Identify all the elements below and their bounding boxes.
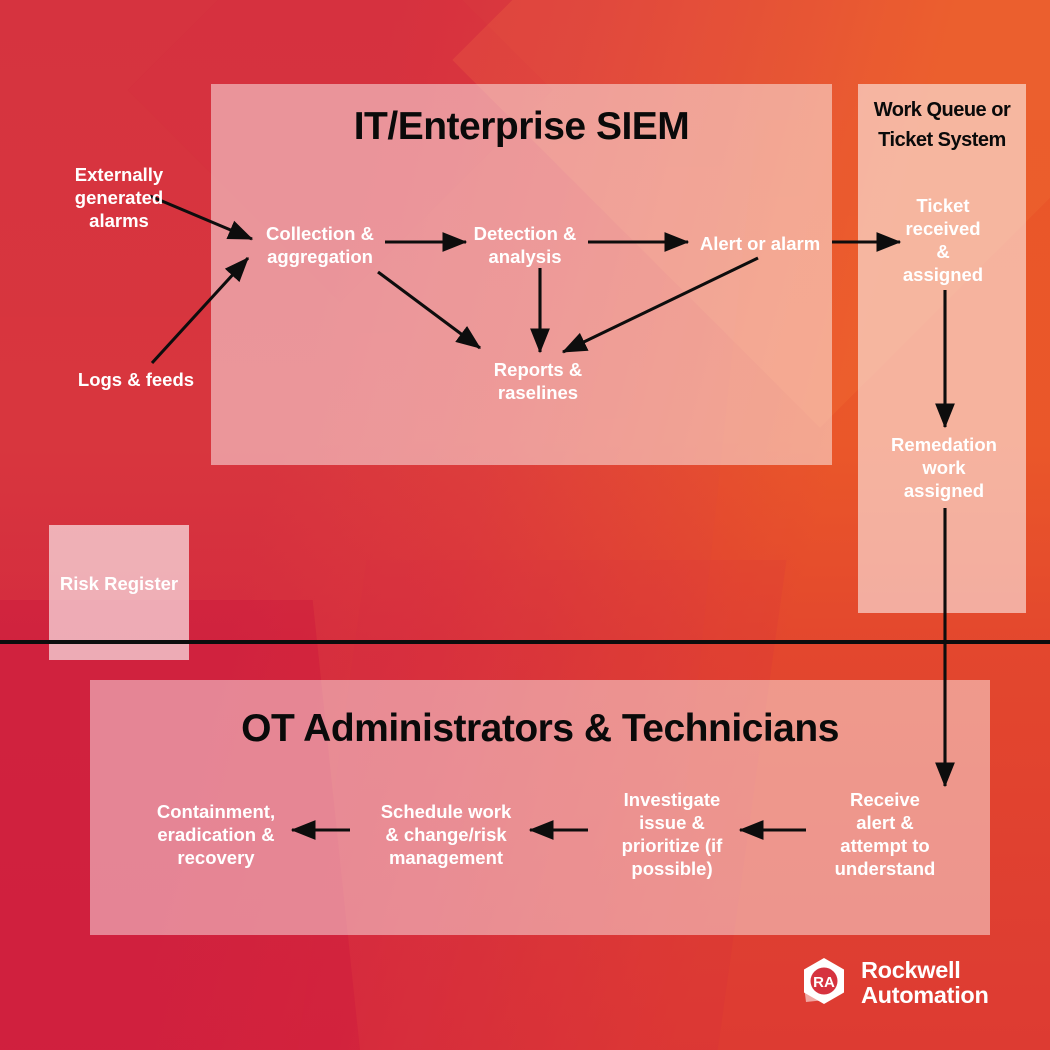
node-detection-analysis: Detection & analysis (455, 222, 595, 268)
input-label-logs-feeds: Logs & feeds (36, 368, 236, 391)
logo-line-rockwell: Rockwell (861, 958, 989, 983)
node-alert-or-alarm: Alert or alarm (680, 232, 840, 255)
ot-panel-title: OT Administrators & Technicians (90, 706, 990, 752)
logo-line-automation: Automation (861, 983, 989, 1008)
node-schedule-work: Schedule work & change/risk management (356, 800, 536, 869)
input-label-external-alarms: Externally generated alarms (36, 163, 202, 232)
node-reports-baselines: Reports & raselines (458, 358, 618, 404)
node-collection-aggregation: Collection & aggregation (240, 222, 400, 268)
rockwell-automation-logo: RA Rockwell Automation (797, 955, 1002, 1011)
node-receive-alert: Receive alert & attempt to understand (812, 788, 958, 880)
ra-mark-text: RA (813, 974, 835, 991)
node-remedation-work-assigned: Remedation work assigned (866, 433, 1022, 502)
panel-work-queue (858, 84, 1026, 613)
siem-panel-title: IT/Enterprise SIEM (211, 104, 832, 150)
node-investigate-issue: Investigate issue & prioritize (if possi… (596, 788, 748, 880)
node-risk-register: Risk Register (49, 572, 189, 595)
node-ticket-received-assigned: Ticket received & assigned (872, 194, 1014, 286)
it-ot-divider-line (0, 640, 1050, 644)
work-queue-panel-title: Work Queue or Ticket System (856, 95, 1028, 155)
diagram-canvas: IT/Enterprise SIEM Work Queue or Ticket … (0, 0, 1050, 1050)
ra-hexagon-icon: RA (797, 956, 851, 1010)
node-containment-eradication: Containment, eradication & recovery (126, 800, 306, 869)
logo-wordmark: Rockwell Automation (861, 958, 989, 1008)
